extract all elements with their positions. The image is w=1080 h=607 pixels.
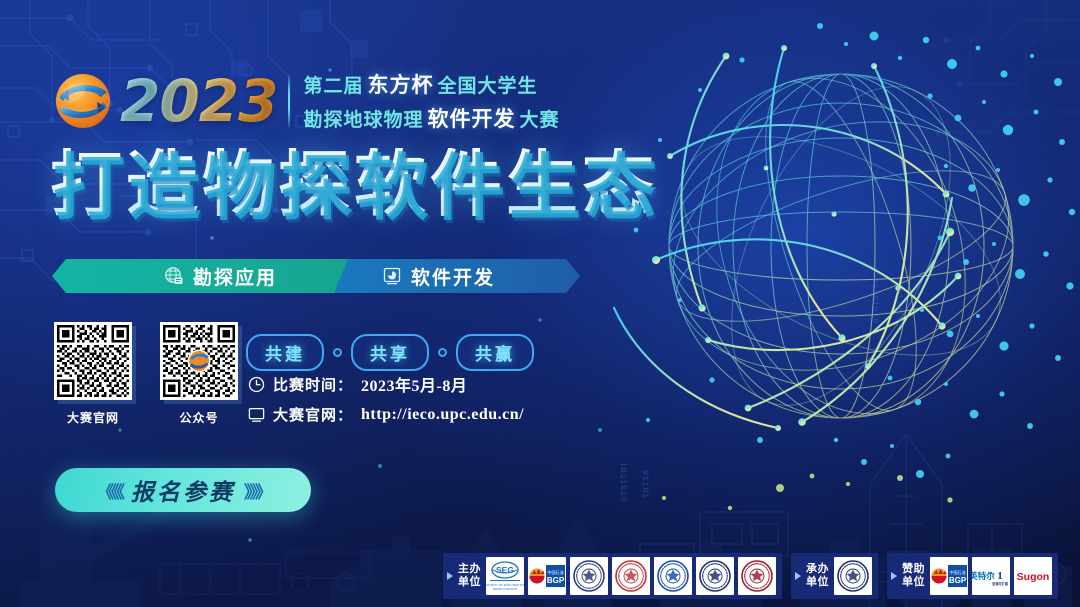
tag-exploration-application: 勘探应用	[164, 258, 277, 294]
info-row-time: 比赛时间： 2023年5月-8月	[248, 372, 524, 396]
sponsor-logo-list-2: 中国石油 BGP 英特尔 1 至强可扩展 Sugon	[930, 557, 1052, 595]
svg-text:GEOPHYSICISTS: GEOPHYSICISTS	[493, 587, 518, 591]
category-tag-banner: 勘探应用 软件开发	[52, 258, 580, 294]
sponsor-logo-list-1	[834, 557, 872, 595]
svg-text:Sugon: Sugon	[1017, 571, 1050, 583]
header-line1-pre: 第二届	[303, 71, 363, 98]
qr-item-website[interactable]: 大赛官网	[54, 322, 132, 426]
institute-seal-logo-1	[570, 557, 608, 595]
badge-1: 共享	[351, 334, 429, 371]
binary-decor-1: 101101010	[870, 272, 879, 324]
sponsor-group-label-2: 赞助单位	[902, 563, 925, 589]
binary-decor-4: 01101	[640, 470, 649, 499]
header-line1-accent: 东方杯	[367, 69, 433, 99]
badge-2: 共赢	[456, 334, 534, 371]
triangle-bullet-icon	[447, 572, 453, 580]
svg-text:BGP: BGP	[949, 576, 967, 585]
cnpc-bgp-logo: 中国石油 BGP	[528, 557, 566, 595]
tag-label-0: 勘探应用	[193, 263, 277, 290]
header-line-2: 勘探地球物理 软件开发 大赛	[303, 103, 559, 133]
header-divider	[288, 75, 290, 127]
badge-separator-dot-0	[333, 348, 342, 357]
tag-label-1: 软件开发	[411, 263, 495, 290]
info-value-0: 2023年5月-8月	[361, 372, 467, 396]
tag-banner-shape	[52, 258, 580, 294]
tag-software-development: 软件开发	[382, 258, 495, 294]
sponsor-group-0: 主办单位 SEG SOCIETY OF EXPLORATION GEOPHYSI…	[443, 553, 782, 599]
svg-text:中国石油: 中国石油	[548, 569, 564, 575]
qr-item-wechat[interactable]: 公众号	[160, 322, 238, 426]
header-line2-pre: 勘探地球物理	[303, 105, 423, 132]
binary-decor-2: 0110101	[894, 288, 903, 329]
slogan-badge-group: 共建 共享 共赢	[246, 334, 534, 371]
chevron-right-icon: 》》》	[244, 478, 269, 503]
intel-logo: 英特尔 1 至强可扩展	[972, 557, 1010, 595]
monitor-icon	[248, 406, 265, 423]
university-seal-logo-4	[696, 557, 734, 595]
competition-poster: 101101010 0110101 1011010 01101	[0, 0, 1080, 607]
svg-text:至强可扩展: 至强可扩展	[992, 581, 1009, 586]
badge-separator-dot-1	[438, 348, 447, 357]
info-value-1[interactable]: http://ieco.upc.edu.cn/	[361, 406, 524, 424]
sugon-logo: Sugon	[1014, 557, 1052, 595]
badge-0: 共建	[246, 334, 324, 371]
clock-icon	[248, 376, 265, 393]
info-label-0: 比赛时间：	[273, 374, 353, 395]
seg-logo: SEG SOCIETY OF EXPLORATION GEOPHYSICISTS	[486, 557, 524, 595]
university-seal-logo-2	[612, 557, 650, 595]
chevron-left-icon: 《《《	[97, 478, 122, 503]
qr-code-group: 大赛官网	[54, 322, 238, 426]
qr-label-1: 公众号	[179, 409, 218, 426]
info-label-1: 大赛官网：	[273, 404, 353, 425]
upc-seal-logo	[834, 557, 872, 595]
binary-decor-3: 1011010	[618, 462, 627, 503]
globe-arrows-emblem-icon	[52, 70, 114, 132]
event-info-group: 比赛时间： 2023年5月-8月 大赛官网： http://ieco.upc.e…	[248, 372, 524, 425]
qr-label-0: 大赛官网	[67, 409, 119, 426]
sponsor-group-label-1: 承办单位	[806, 563, 829, 589]
sponsor-bar: 主办单位 SEG SOCIETY OF EXPLORATION GEOPHYSI…	[443, 553, 1058, 599]
main-title: 打造物探软件生态	[50, 148, 658, 220]
info-row-website[interactable]: 大赛官网： http://ieco.upc.edu.cn/	[248, 404, 524, 425]
svg-text:1: 1	[997, 570, 1003, 582]
sponsor-group-1: 承办单位	[791, 553, 878, 599]
triangle-bullet-icon	[795, 572, 801, 580]
globe-network-icon	[164, 266, 184, 286]
sponsor-logo-list-0: SEG SOCIETY OF EXPLORATION GEOPHYSICISTS…	[486, 557, 776, 595]
register-button[interactable]: 《《《 报名参赛 》》》	[55, 468, 311, 512]
svg-text:SEG: SEG	[496, 565, 514, 575]
university-seal-logo-3	[654, 557, 692, 595]
university-seal-logo-5	[738, 557, 776, 595]
chart-monitor-icon	[382, 266, 402, 286]
poster-header: 2023 第二届 东方杯 全国大学生 勘探地球物理 软件开发 大赛	[52, 62, 559, 140]
qr-code-icon-wechat[interactable]	[160, 322, 238, 400]
register-button-label: 报名参赛	[131, 473, 235, 507]
header-line1-post: 全国大学生	[437, 71, 537, 98]
triangle-bullet-icon	[891, 572, 897, 580]
header-line2-post: 大赛	[519, 105, 559, 132]
year-logo: 2023	[120, 72, 277, 130]
header-line-1: 第二届 东方杯 全国大学生	[303, 69, 559, 99]
sponsor-group-label-0: 主办单位	[458, 563, 481, 589]
sponsor-group-2: 赞助单位 中国石油 BGP 英特尔 1 至强可扩展 Sugon	[887, 553, 1058, 599]
svg-text:BGP: BGP	[547, 576, 565, 585]
qr-code-icon-website[interactable]	[54, 322, 132, 400]
header-line2-accent: 软件开发	[427, 103, 515, 133]
svg-text:中国石油: 中国石油	[950, 569, 966, 575]
cnpc-bgp-logo: 中国石油 BGP	[930, 557, 968, 595]
